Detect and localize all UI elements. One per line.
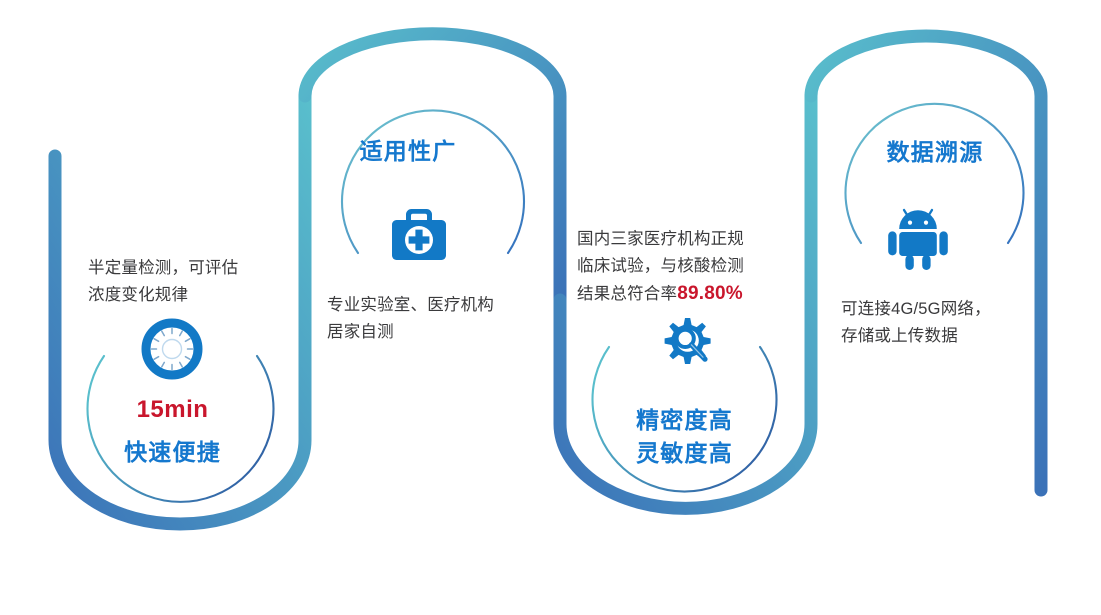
infographic-canvas: 半定量检测，可评估 浓度变化规律 15min 快速便捷: [0, 0, 1101, 615]
segment-2-description: 专业实验室、医疗机构 居家自测: [327, 292, 542, 345]
android-robot-icon: [885, 205, 951, 271]
segment-1-description: 半定量检测，可评估 浓度变化规律: [88, 255, 298, 308]
clock-icon: [141, 318, 203, 380]
segment-1-heading: 快速便捷: [0, 436, 345, 469]
segment-4-heading: 数据溯源: [835, 136, 1035, 169]
segment-2-heading: 适用性广: [308, 135, 508, 168]
medical-kit-icon: [388, 206, 450, 264]
gear-magnifier-icon: [653, 316, 719, 380]
segment-3-description: 国内三家医疗机构正规 临床试验，与核酸检测 结果总符合率89.80%: [577, 226, 792, 310]
segment-3-percent-value: 89.80%: [677, 283, 743, 304]
segment-1-metric: 15min: [0, 396, 345, 424]
segment-4-description: 可连接4G/5G网络， 存储或上传数据: [841, 296, 1051, 349]
segment-3-heading: 精密度高 灵敏度高: [582, 404, 787, 469]
